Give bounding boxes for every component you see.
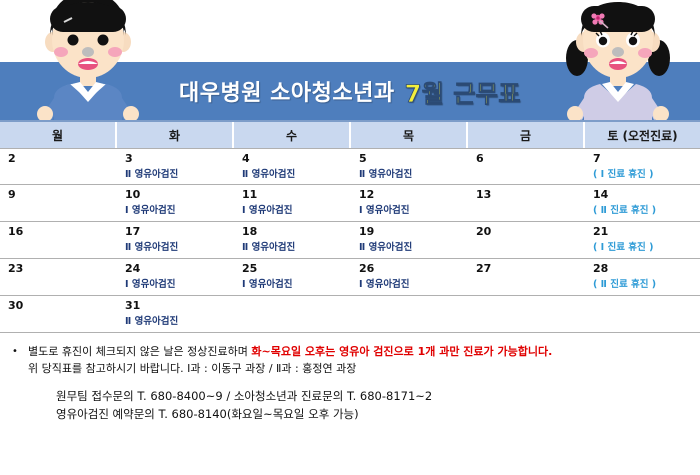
note-line-1: • 별도로 휴진이 체크되지 않은 날은 정상진료하며 화~목요일 오후는 영유… (0, 343, 700, 377)
day-number: 24 (125, 262, 234, 275)
day-number: 4 (242, 152, 351, 165)
calendar-day-cell[interactable]: 28( Ⅱ 진료 휴진 ) (585, 259, 700, 295)
day-number: 2 (8, 152, 117, 165)
day-number: 11 (242, 188, 351, 201)
day-closure-note: ( Ⅰ 진료 휴진 ) (593, 169, 700, 181)
day-checkup-note: Ⅰ 영유아검진 (125, 279, 234, 291)
day-checkup-note: Ⅰ 영유아검진 (242, 279, 351, 291)
day-number: 12 (359, 188, 468, 201)
day-checkup-note: Ⅱ 영유아검진 (125, 242, 234, 254)
calendar-day-cell[interactable]: 5Ⅱ 영유아검진 (351, 149, 468, 184)
note-highlight: 화~목요일 오후는 영유아 검진으로 1개 과만 진료가 가능합니다. (251, 345, 552, 358)
weekday-header-1: 화 (117, 122, 234, 148)
calendar-day-cell[interactable]: 11Ⅰ 영유아검진 (234, 185, 351, 221)
calendar-day-cell[interactable]: 19Ⅱ 영유아검진 (351, 222, 468, 258)
calendar-day-cell[interactable]: 26Ⅰ 영유아검진 (351, 259, 468, 295)
day-checkup-note: Ⅰ 영유아검진 (359, 279, 468, 291)
note-text-1: 별도로 휴진이 체크되지 않은 날은 정상진료하며 화~목요일 오후는 영유아 … (28, 343, 700, 360)
calendar-day-cell[interactable]: 20 (468, 222, 585, 258)
calendar-grid: 23Ⅱ 영유아검진4Ⅱ 영유아검진5Ⅱ 영유아검진67( Ⅰ 진료 휴진 )91… (0, 148, 700, 333)
day-checkup-note: Ⅱ 영유아검진 (125, 316, 234, 328)
day-number: 6 (476, 152, 585, 165)
day-checkup-note: Ⅰ 영유아검진 (125, 205, 234, 217)
day-number: 7 (593, 152, 700, 165)
note-text-2: 위 당직표를 참고하시기 바랍니다. Ⅰ과 : 이동구 과장 / Ⅱ과 : 홍정… (28, 360, 700, 377)
calendar-day-cell[interactable]: 12Ⅰ 영유아검진 (351, 185, 468, 221)
day-checkup-note: Ⅱ 영유아검진 (359, 169, 468, 181)
calendar-week-row: 2324Ⅰ 영유아검진25Ⅰ 영유아검진26Ⅰ 영유아검진2728( Ⅱ 진료 … (0, 259, 700, 296)
footer-notes: • 별도로 휴진이 체크되지 않은 날은 정상진료하며 화~목요일 오후는 영유… (0, 333, 700, 423)
day-checkup-note: Ⅱ 영유아검진 (359, 242, 468, 254)
calendar-day-cell[interactable]: 13 (468, 185, 585, 221)
calendar-day-cell[interactable]: 18Ⅱ 영유아검진 (234, 222, 351, 258)
day-number: 27 (476, 262, 585, 275)
contact-line-2: 영유아검진 예약문의 T. 680-8140(화요일~목요일 오후 가능) (56, 405, 700, 423)
calendar-day-cell[interactable]: 3Ⅱ 영유아검진 (117, 149, 234, 184)
bullet-icon: • (12, 343, 28, 360)
day-checkup-note: Ⅱ 영유아검진 (125, 169, 234, 181)
calendar-day-cell[interactable] (351, 296, 468, 332)
girl-nurse-icon (558, 0, 678, 120)
calendar-day-cell[interactable]: 14( Ⅱ 진료 휴진 ) (585, 185, 700, 221)
day-number: 5 (359, 152, 468, 165)
day-closure-note: ( Ⅱ 진료 휴진 ) (593, 205, 700, 217)
day-checkup-note: Ⅱ 영유아검진 (242, 242, 351, 254)
day-number: 18 (242, 225, 351, 238)
day-checkup-note: Ⅰ 영유아검진 (242, 205, 351, 217)
calendar-week-row: 1617Ⅱ 영유아검진18Ⅱ 영유아검진19Ⅱ 영유아검진2021( Ⅰ 진료 … (0, 222, 700, 259)
weekday-header-5: 토 (오전진료) (585, 122, 700, 148)
calendar-day-cell[interactable]: 31Ⅱ 영유아검진 (117, 296, 234, 332)
calendar-day-cell[interactable]: 17Ⅱ 영유아검진 (117, 222, 234, 258)
calendar-day-cell[interactable]: 27 (468, 259, 585, 295)
note-prefix: 별도로 휴진이 체크되지 않은 날은 정상진료하며 (28, 345, 251, 358)
calendar-day-cell[interactable]: 9 (0, 185, 117, 221)
calendar-week-row: 3031Ⅱ 영유아검진 (0, 296, 700, 333)
day-closure-note: ( Ⅰ 진료 휴진 ) (593, 242, 700, 254)
day-number: 31 (125, 299, 234, 312)
day-number: 9 (8, 188, 117, 201)
day-number: 14 (593, 188, 700, 201)
day-number: 16 (8, 225, 117, 238)
day-number: 26 (359, 262, 468, 275)
calendar-week-row: 910Ⅰ 영유아검진11Ⅰ 영유아검진12Ⅰ 영유아검진1314( Ⅱ 진료 휴… (0, 185, 700, 222)
calendar-day-cell[interactable]: 23 (0, 259, 117, 295)
weekday-header-3: 목 (351, 122, 468, 148)
calendar-day-cell[interactable] (234, 296, 351, 332)
boy-doctor-icon (28, 0, 148, 120)
calendar-day-cell[interactable]: 21( Ⅰ 진료 휴진 ) (585, 222, 700, 258)
calendar-week-row: 23Ⅱ 영유아검진4Ⅱ 영유아검진5Ⅱ 영유아검진67( Ⅰ 진료 휴진 ) (0, 148, 700, 185)
header-banner: 대우병원 소아청소년과 7월 근무표 (0, 0, 700, 120)
day-number: 21 (593, 225, 700, 238)
calendar-day-cell[interactable]: 30 (0, 296, 117, 332)
day-number: 20 (476, 225, 585, 238)
day-number: 23 (8, 262, 117, 275)
day-number: 3 (125, 152, 234, 165)
day-number: 19 (359, 225, 468, 238)
weekday-header-4: 금 (468, 122, 585, 148)
calendar-day-cell[interactable]: 6 (468, 149, 585, 184)
calendar-day-cell[interactable]: 24Ⅰ 영유아검진 (117, 259, 234, 295)
calendar-day-cell[interactable]: 25Ⅰ 영유아검진 (234, 259, 351, 295)
day-checkup-note: Ⅱ 영유아검진 (242, 169, 351, 181)
day-checkup-note: Ⅰ 영유아검진 (359, 205, 468, 217)
calendar-day-cell[interactable]: 16 (0, 222, 117, 258)
day-number: 25 (242, 262, 351, 275)
day-number: 10 (125, 188, 234, 201)
contact-block: 원무팀 접수문의 T. 680-8400~9 / 소아청소년과 진료문의 T. … (0, 377, 700, 423)
calendar-day-cell[interactable] (585, 296, 700, 332)
weekday-header-2: 수 (234, 122, 351, 148)
day-closure-note: ( Ⅱ 진료 휴진 ) (593, 279, 700, 291)
day-number: 13 (476, 188, 585, 201)
day-number: 17 (125, 225, 234, 238)
day-number: 28 (593, 262, 700, 275)
weekday-header-0: 월 (0, 122, 117, 148)
day-number: 30 (8, 299, 117, 312)
note-body: 별도로 휴진이 체크되지 않은 날은 정상진료하며 화~목요일 오후는 영유아 … (28, 343, 700, 377)
calendar-day-cell[interactable]: 4Ⅱ 영유아검진 (234, 149, 351, 184)
calendar-day-cell[interactable]: 7( Ⅰ 진료 휴진 ) (585, 149, 700, 184)
calendar-day-cell[interactable]: 2 (0, 149, 117, 184)
calendar-day-cell[interactable]: 10Ⅰ 영유아검진 (117, 185, 234, 221)
calendar-day-cell[interactable] (468, 296, 585, 332)
weekday-header-row: 월화수목금토 (오전진료) (0, 120, 700, 148)
contact-line-1: 원무팀 접수문의 T. 680-8400~9 / 소아청소년과 진료문의 T. … (56, 387, 700, 405)
